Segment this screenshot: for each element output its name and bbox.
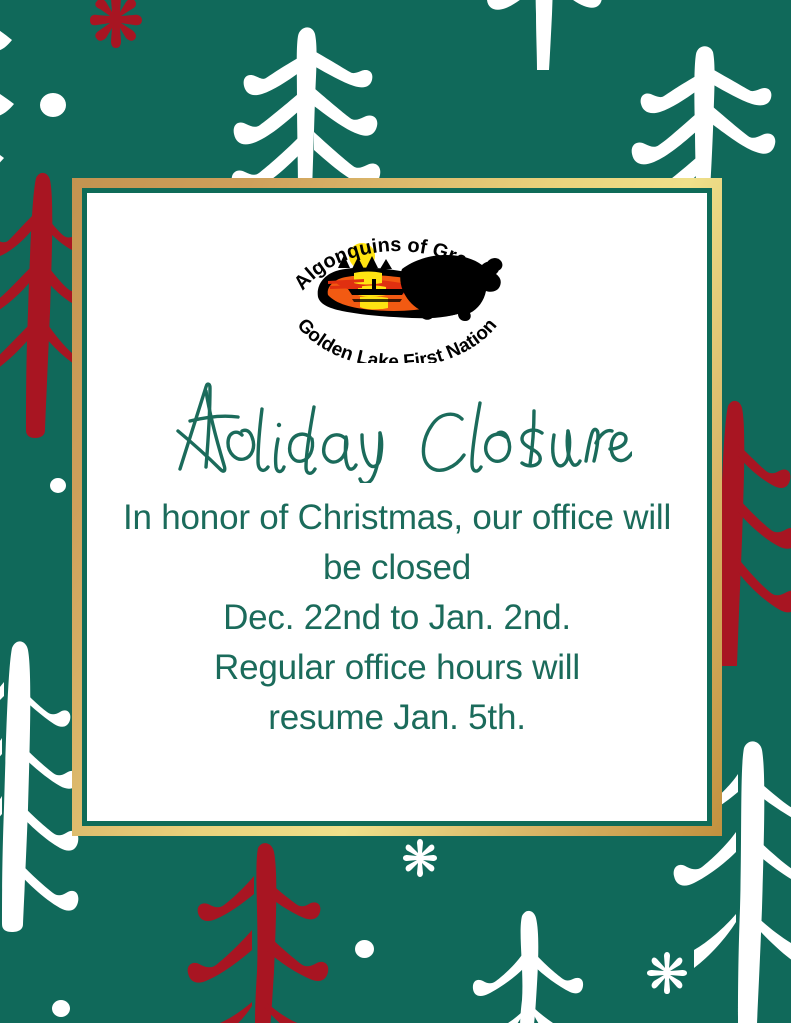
agglfn-logo: Algonquins of Greater Golden Lake First … bbox=[266, 211, 528, 363]
headline-container bbox=[87, 369, 707, 487]
pine-tree-white-bottom-center-icon bbox=[470, 910, 590, 1023]
notice-card: Algonquins of Greater Golden Lake First … bbox=[87, 193, 707, 821]
dot-white-bottom-center-icon bbox=[355, 940, 374, 958]
body-line-5: resume Jan. 5th. bbox=[97, 693, 697, 743]
gold-frame: Algonquins of Greater Golden Lake First … bbox=[72, 178, 722, 836]
dot-white-bottom-left-icon bbox=[52, 1000, 70, 1017]
body-line-1: In honor of Christmas, our office will bbox=[97, 493, 697, 543]
logo-bottom-arc-text: Golden Lake First Nation bbox=[293, 315, 501, 363]
headline-holiday-closure bbox=[162, 373, 632, 483]
body-line-3: Dec. 22nd to Jan. 2nd. bbox=[97, 593, 697, 643]
pine-tree-white-top-right-a-icon bbox=[480, 0, 610, 96]
pine-tree-white-top-center-icon bbox=[212, 14, 402, 199]
snowflake-white-bottom-right-icon bbox=[644, 950, 690, 996]
snowflake-white-bottom-center-icon bbox=[400, 838, 440, 878]
body-line-2: be closed bbox=[97, 543, 697, 593]
holiday-closure-poster: Algonquins of Greater Golden Lake First … bbox=[0, 0, 791, 1023]
dot-white-mid-left-icon bbox=[50, 478, 66, 493]
frame-inner-green-line: Algonquins of Greater Golden Lake First … bbox=[82, 188, 712, 826]
pine-tree-white-top-left-corner-icon bbox=[0, 0, 74, 174]
body-line-4: Regular office hours will bbox=[97, 643, 697, 693]
pine-tree-white-top-right-b-icon bbox=[612, 40, 791, 190]
body-copy: In honor of Christmas, our office will b… bbox=[97, 493, 697, 743]
dot-white-upper-left-icon bbox=[40, 93, 66, 117]
pine-tree-red-bottom-icon bbox=[192, 842, 342, 1023]
starburst-red-top-icon bbox=[84, 0, 148, 50]
